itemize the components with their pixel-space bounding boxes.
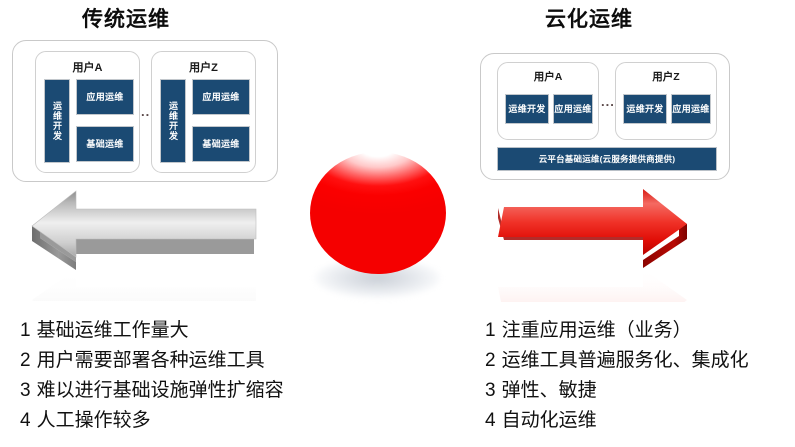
box-ops-dev-z-left: 运维开发: [160, 79, 186, 163]
list-item-number: 4: [485, 406, 496, 436]
box-ops-dev-a-right: 运维开发: [505, 94, 549, 124]
list-item: 3弹性、敏捷: [485, 376, 749, 406]
right-panel-title: 云化运维: [545, 3, 633, 33]
list-item-text: 用户需要部署各种运维工具: [37, 350, 265, 371]
list-item-number: 3: [20, 376, 31, 406]
cloud-ops-list: 1注重应用运维（业务） 2运维工具普遍服务化、集成化 3弹性、敏捷 4自动化运维: [485, 316, 749, 436]
list-item-text: 难以进行基础设施弹性扩缩容: [37, 380, 284, 401]
list-item-text: 人工操作较多: [37, 410, 151, 431]
box-app-ops-a-left: 应用运维: [76, 79, 134, 115]
list-item-number: 2: [20, 346, 31, 376]
list-item: 1基础运维工作量大: [20, 316, 284, 346]
box-app-ops-z-left: 应用运维: [192, 79, 250, 115]
list-item: 1注重应用运维（业务）: [485, 316, 749, 346]
gray-left-arrow: [24, 183, 274, 306]
user-label-a-right: 用户A: [498, 69, 598, 84]
list-item-text: 注重应用运维（业务）: [502, 320, 692, 341]
user-label-z-right: 用户Z: [616, 69, 716, 84]
left-panel-title: 传统运维: [82, 3, 170, 33]
user-panel-z-left: 用户Z 运维开发 应用运维 基础运维: [151, 51, 256, 173]
user-panel-z-right: 用户Z 运维开发 应用运维: [615, 62, 717, 140]
list-item: 3难以进行基础设施弹性扩缩容: [20, 376, 284, 406]
traditional-ops-panel: 用户A 运维开发 应用运维 基础运维 ... 用户Z 运维开发 应用运维 基础运…: [12, 40, 278, 182]
list-item: 4自动化运维: [485, 406, 749, 436]
list-item-text: 基础运维工作量大: [37, 320, 189, 341]
ellipsis-right-panel: ...: [601, 95, 615, 108]
user-panel-a-left: 用户A 运维开发 应用运维 基础运维: [35, 51, 140, 173]
cloud-platform-bar: 云平台基础运维(云服务提供商提供): [497, 147, 717, 171]
box-ops-dev-a-left: 运维开发: [44, 79, 70, 163]
list-item-number: 3: [485, 376, 496, 406]
box-infra-ops-z-left: 基础运维: [192, 126, 250, 162]
user-label-a-left: 用户A: [36, 59, 139, 75]
user-label-z-left: 用户Z: [152, 59, 255, 75]
list-item: 4人工操作较多: [20, 406, 284, 436]
traditional-ops-list: 1基础运维工作量大 2用户需要部署各种运维工具 3难以进行基础设施弹性扩缩容 4…: [20, 316, 284, 436]
list-item: 2运维工具普遍服务化、集成化: [485, 346, 749, 376]
list-item-text: 弹性、敏捷: [502, 380, 597, 401]
list-item-text: 自动化运维: [502, 410, 597, 431]
list-item-number: 2: [485, 346, 496, 376]
list-item-text: 运维工具普遍服务化、集成化: [502, 350, 749, 371]
box-app-ops-z-right: 应用运维: [671, 94, 711, 124]
red-sphere: [310, 152, 446, 274]
box-app-ops-a-right: 应用运维: [553, 94, 593, 124]
list-item: 2用户需要部署各种运维工具: [20, 346, 284, 376]
list-item-number: 4: [20, 406, 31, 436]
red-right-arrow: [492, 182, 707, 307]
list-item-number: 1: [20, 316, 31, 346]
user-panel-a-right: 用户A 运维开发 应用运维: [497, 62, 599, 140]
box-ops-dev-z-right: 运维开发: [623, 94, 667, 124]
list-item-number: 1: [485, 316, 496, 346]
cloud-ops-panel: 用户A 运维开发 应用运维 ... 用户Z 运维开发 应用运维 云平台基础运维(…: [480, 53, 730, 180]
box-infra-ops-a-left: 基础运维: [76, 126, 134, 162]
